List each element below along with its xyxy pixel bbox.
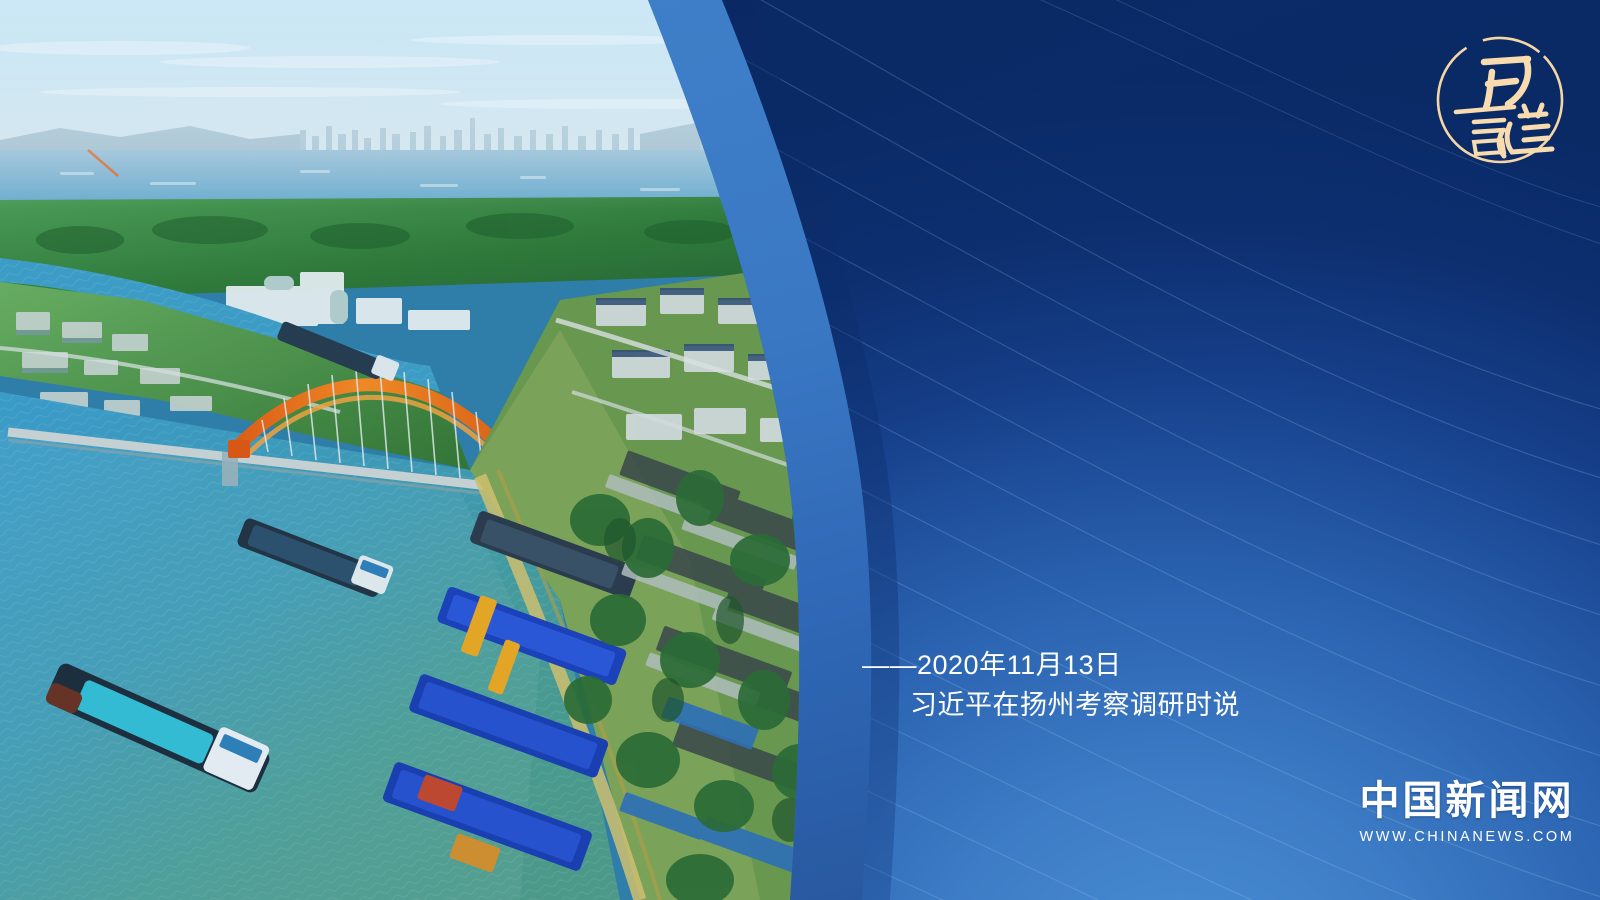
quote-line-1: 千百年来， xyxy=(845,178,1565,257)
attribution-source: 习近平在扬州考察调研时说 xyxy=(910,685,1240,725)
attribution-date: ——2020年11月13日 xyxy=(862,645,1240,685)
poster-canvas: 千百年来， 运河滋养两岸城市和人民， 是运河两岸人民的 致富河、幸福河。 ——2… xyxy=(0,0,1600,900)
quote-line-4: 致富河、幸福河。 xyxy=(845,415,1565,494)
quote-line-3: 是运河两岸人民的 xyxy=(845,336,1565,415)
brand-url: WWW.CHINANEWS.COM xyxy=(1358,829,1576,845)
quote-line-2: 运河滋养两岸城市和人民， xyxy=(845,257,1565,336)
quote-block: 千百年来， 运河滋养两岸城市和人民， 是运河两岸人民的 致富河、幸福河。 xyxy=(845,178,1565,494)
attribution-block: ——2020年11月13日 习近平在扬州考察调研时说 xyxy=(862,645,1240,725)
chinanews-brand: 中国新闻网 WWW.CHINANEWS.COM xyxy=(1358,778,1576,845)
xi-yan-dao-seal-logo xyxy=(1428,28,1572,172)
brand-name-cn: 中国新闻网 xyxy=(1358,778,1576,824)
